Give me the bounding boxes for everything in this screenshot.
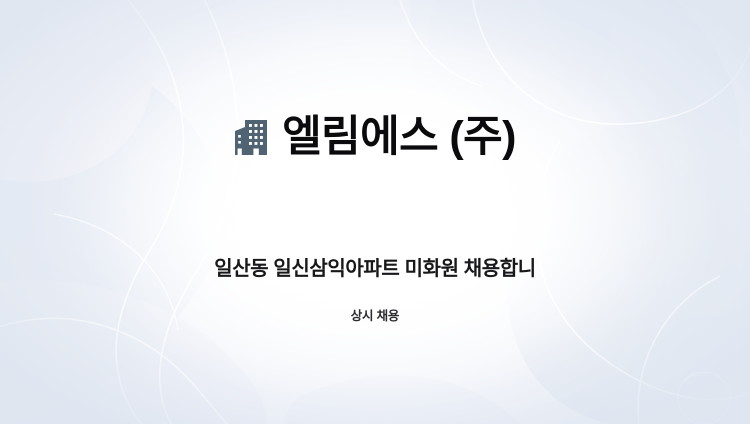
company-heading: 엘림에스 (주) xyxy=(234,87,516,188)
company-name: 엘림에스 (주) xyxy=(282,116,516,159)
job-posting-banner: 엘림에스 (주) 일산동 일신삼익아파트 미화원 채용합니 상시 채용 xyxy=(0,0,750,424)
job-title: 일산동 일신삼익아파트 미화원 채용합니 xyxy=(214,256,535,282)
banner-content: 엘림에스 (주) 일산동 일신삼익아파트 미화원 채용합니 상시 채용 xyxy=(0,0,750,424)
office-building-icon xyxy=(234,119,268,155)
employment-type-label: 상시 채용 xyxy=(351,308,399,324)
